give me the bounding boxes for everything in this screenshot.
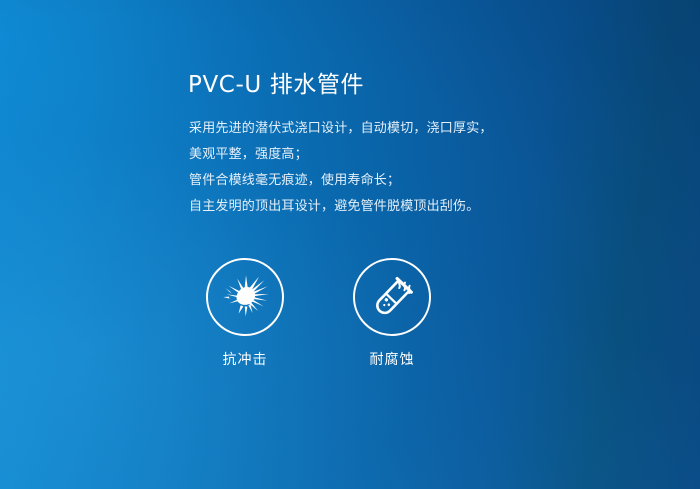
feature-list: 抗冲击 [200, 258, 437, 369]
feature-item-impact: 抗冲击 [200, 258, 290, 369]
impact-burst-icon [219, 271, 271, 323]
feature-icon-circle [353, 258, 431, 336]
product-banner: PVC-U 排水管件 采用先进的潜伏式浇口设计，自动模切，浇口厚实， 美观平整，… [0, 0, 700, 489]
description-block: 采用先进的潜伏式浇口设计，自动模切，浇口厚实， 美观平整，强度高； 管件合模线毫… [189, 116, 529, 220]
feature-label: 抗冲击 [223, 349, 268, 369]
banner-content: PVC-U 排水管件 采用先进的潜伏式浇口设计，自动模切，浇口厚实， 美观平整，… [188, 0, 648, 489]
description-line: 采用先进的潜伏式浇口设计，自动模切，浇口厚实， [189, 116, 529, 142]
feature-item-corrosion: 耐腐蚀 [347, 258, 437, 369]
description-line: 美观平整，强度高； [189, 142, 529, 168]
feature-label: 耐腐蚀 [370, 349, 415, 369]
description-line: 管件合模线毫无痕迹，使用寿命长； [189, 168, 529, 194]
feature-icon-circle [206, 258, 284, 336]
test-tube-icon [366, 271, 418, 323]
page-title: PVC-U 排水管件 [188, 74, 364, 97]
description-line: 自主发明的顶出耳设计，避免管件脱模顶出刮伤。 [189, 194, 529, 220]
